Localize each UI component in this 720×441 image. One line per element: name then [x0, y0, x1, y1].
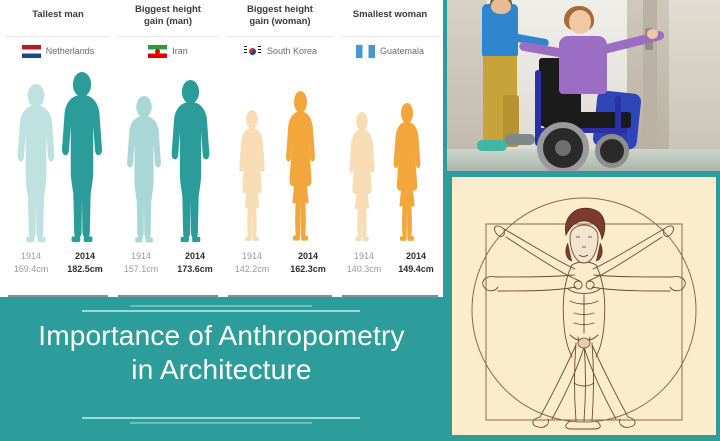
year-0-old: 1914: [4, 250, 58, 263]
height-0-old: 169.4cm: [4, 263, 58, 276]
value-3-2014: 2014 149.4cm: [390, 250, 442, 276]
column-header-2-l2: gain (woman): [249, 16, 310, 27]
height-1-new: 173.6cm: [168, 263, 222, 276]
poster-title-block: Importance of Anthropometry in Architect…: [0, 297, 443, 441]
column-header-2: Biggest heightgain (woman): [224, 4, 336, 27]
header-divider-3: [340, 36, 440, 37]
caregiver-shoe-left: [477, 140, 507, 151]
legend-country-3: Guatemala: [338, 40, 442, 62]
wheelchair-front-wheel: [595, 134, 629, 168]
figure-group-2: [224, 62, 336, 246]
flag-south-korea-icon: [243, 45, 262, 58]
right-column: [443, 0, 720, 441]
poster-root: Tallest man Biggest heightgain (man) Big…: [0, 0, 720, 441]
year-3-new: 2014: [390, 250, 442, 263]
value-0-2014: 2014 182.5cm: [58, 250, 112, 276]
silhouette-1-1914: [122, 96, 166, 244]
header-divider-1: [116, 36, 220, 37]
height-2-new: 162.3cm: [280, 263, 336, 276]
page-title-line2: in Architecture: [0, 353, 443, 387]
country-name-2: South Korea: [267, 46, 317, 56]
caregiver-head: [491, 0, 511, 14]
value-1-2014: 2014 173.6cm: [168, 250, 222, 276]
column-header-0: Tallest man: [4, 9, 112, 21]
silhouette-2-2014: [280, 91, 321, 244]
page-title-line1: Importance of Anthropometry: [38, 320, 404, 351]
vitruvian-man-illustration: [452, 177, 716, 435]
year-1-new: 2014: [168, 250, 222, 263]
silhouette-area: [0, 62, 443, 246]
photo-wall-right: [669, 0, 720, 171]
flag-iran-icon: [148, 45, 167, 58]
elevator-door: [643, 0, 657, 160]
value-2-1914: 1914 142.2cm: [224, 250, 280, 276]
height-3-new: 149.4cm: [390, 263, 442, 276]
height-comparison-chart: Tallest man Biggest heightgain (man) Big…: [0, 0, 443, 297]
year-2-old: 1914: [224, 250, 280, 263]
figure-group-0: [4, 62, 112, 246]
year-2-new: 2014: [280, 250, 336, 263]
silhouette-3-1914: [344, 112, 380, 244]
legend-country-1: Iran: [114, 40, 222, 62]
height-3-old: 140.3cm: [338, 263, 390, 276]
header-divider-2: [226, 36, 334, 37]
silhouette-0-2014: [56, 72, 108, 244]
value-0-1914: 1914 169.4cm: [4, 250, 58, 276]
legend-country-2: South Korea: [224, 40, 336, 62]
vitruvian-man-svg: [452, 177, 716, 435]
column-header-1-l2: gain (man): [144, 16, 192, 27]
silhouette-0-1914: [12, 84, 60, 244]
silhouette-2-1914: [234, 110, 270, 244]
year-1-old: 1914: [114, 250, 168, 263]
flag-guatemala-icon: [356, 45, 375, 58]
height-0-new: 182.5cm: [58, 263, 112, 276]
country-name-3: Guatemala: [380, 46, 424, 56]
title-rule-top-short: [130, 305, 312, 307]
wheelchair-rear-wheel: [537, 122, 589, 171]
wheelchair-user-elevator-photo: [447, 0, 720, 171]
silhouette-1-2014: [166, 80, 215, 244]
flag-netherlands-icon: [22, 45, 41, 58]
chart-header-row: Tallest man Biggest heightgain (man) Big…: [0, 0, 443, 36]
year-3-old: 1914: [338, 250, 390, 263]
height-2-old: 142.2cm: [224, 263, 280, 276]
title-rule-top-long: [82, 310, 360, 312]
left-column: Tallest man Biggest heightgain (man) Big…: [0, 0, 443, 441]
column-header-2-l1: Biggest height: [247, 4, 313, 15]
country-name-0: Netherlands: [46, 46, 95, 56]
value-row-1: 1914 157.1cm 2014 173.6cm: [114, 250, 222, 290]
title-rule-bottom-long: [82, 417, 360, 419]
country-name-1: Iran: [172, 46, 188, 56]
height-1-old: 157.1cm: [114, 263, 168, 276]
value-2-2014: 2014 162.3cm: [280, 250, 336, 276]
value-1-1914: 1914 157.1cm: [114, 250, 168, 276]
silhouette-3-2014: [388, 103, 426, 244]
wheelchair-user-head: [569, 10, 591, 34]
figure-group-1: [114, 62, 222, 246]
wheelchair-user-torso: [559, 36, 607, 94]
value-row-0: 1914 169.4cm 2014 182.5cm: [4, 250, 112, 290]
header-divider-0: [6, 36, 110, 37]
column-header-1: Biggest heightgain (man): [114, 4, 222, 27]
value-row-2: 1914 142.2cm 2014 162.3cm: [224, 250, 336, 290]
column-header-1-l1: Biggest height: [135, 4, 201, 15]
caregiver-shoe-right: [505, 134, 535, 145]
column-header-3: Smallest woman: [338, 9, 442, 21]
title-rule-bottom-short: [130, 422, 312, 424]
value-row-3: 1914 140.3cm 2014 149.4cm: [338, 250, 442, 290]
legend-country-0: Netherlands: [4, 40, 112, 62]
year-0-new: 2014: [58, 250, 112, 263]
page-title: Importance of Anthropometry in Architect…: [0, 319, 443, 387]
value-3-1914: 1914 140.3cm: [338, 250, 390, 276]
wheelchair-user-hand: [647, 29, 658, 39]
figure-group-3: [338, 62, 442, 246]
